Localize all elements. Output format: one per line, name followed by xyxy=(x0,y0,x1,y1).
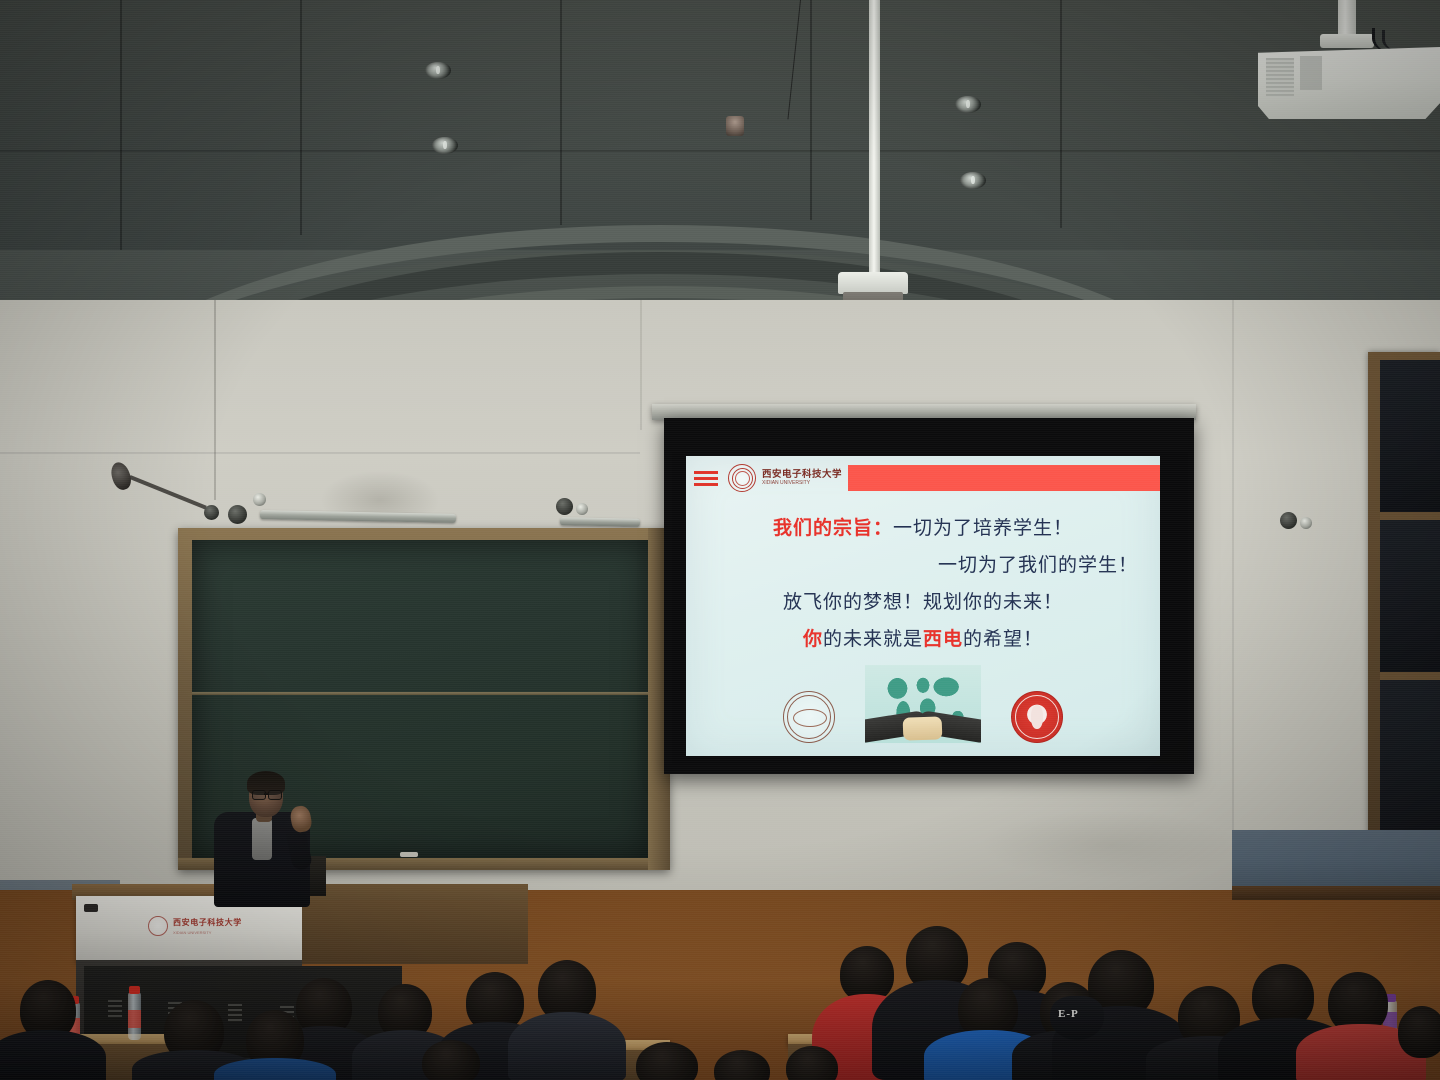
wall-fitting-icon xyxy=(253,493,266,506)
podium-side xyxy=(302,884,528,964)
red-stripe-bars-icon xyxy=(694,471,720,486)
slide-line-4-highlight2: 西电 xyxy=(923,628,963,650)
slide-image-row xyxy=(686,665,1160,743)
university-name-en: XIDIAN UNIVERSITY xyxy=(762,481,842,486)
ceiling-seam xyxy=(120,0,122,250)
wall-seam xyxy=(0,452,640,454)
slide-line-4-rest2: 的希望！ xyxy=(963,628,1043,650)
presenter-glasses-right-lens xyxy=(268,790,282,800)
university-name-block: 西安电子科技大学 XIDIAN UNIVERSITY xyxy=(762,470,842,487)
camera-mount-pole xyxy=(869,0,880,275)
window-mullion xyxy=(1380,512,1440,520)
red-seal-figure xyxy=(1031,705,1043,729)
wainscot-base-trim xyxy=(1232,886,1440,900)
speaker-mount-plate xyxy=(204,505,219,520)
wall-fitting-icon xyxy=(228,505,247,524)
podium-corner-tag xyxy=(84,904,98,912)
fluorescent-tube-icon xyxy=(560,517,640,527)
university-name-cn: 西安电子科技大学 xyxy=(762,470,842,480)
cabinet-vent xyxy=(228,1004,242,1022)
projector-vent xyxy=(1300,56,1322,90)
handshake-world-map-image xyxy=(865,665,981,743)
bottle-cap xyxy=(129,986,140,994)
wall-fitting-icon xyxy=(1300,517,1312,529)
slide-line-1: 我们的宗旨：一切为了培养学生！ xyxy=(702,513,1144,540)
slide-line-4-rest: 的未来就是 xyxy=(823,628,923,650)
wainscot-panel xyxy=(1232,830,1440,890)
ceiling-seam xyxy=(560,0,562,225)
podium-seal-icon xyxy=(148,916,168,936)
window-pane xyxy=(1380,360,1440,512)
window-pane xyxy=(1380,520,1440,672)
wall-seam xyxy=(640,300,642,430)
red-circular-seal-icon xyxy=(1011,691,1063,743)
ceiling-dark-panels xyxy=(0,0,1440,250)
podium-logo: 西安电子科技大学 XIDIAN UNIVERSITY xyxy=(148,916,242,936)
podium-logo-en: XIDIAN UNIVERSITY xyxy=(173,930,242,935)
bottle-label xyxy=(128,1010,141,1028)
slide-line-2: 一切为了我们的学生！ xyxy=(702,550,1144,577)
presenter-glasses-bridge xyxy=(264,793,268,795)
projector-vent xyxy=(1266,58,1294,98)
slide-line-3: 放飞你的梦想！规划你的未来！ xyxy=(702,587,1144,614)
blackboard-divider xyxy=(192,692,650,695)
ceiling-seam xyxy=(810,0,812,220)
window-pane xyxy=(1380,680,1440,848)
downlight-icon xyxy=(425,62,451,79)
slide-line-4: 你的未来就是西电的希望！ xyxy=(702,624,1144,651)
cabinet-vent xyxy=(108,1000,122,1018)
audience-shoulders xyxy=(508,1012,626,1080)
wall-seam xyxy=(214,300,216,500)
slide-content: 西安电子科技大学 XIDIAN UNIVERSITY 我们的宗旨：一切为了培养学… xyxy=(686,456,1160,756)
slide-line-1-rest: 一切为了培养学生！ xyxy=(893,517,1073,539)
chalk-piece xyxy=(400,852,418,857)
brown-scalloped-seal-icon xyxy=(783,691,835,743)
slide-line-4-highlight: 你 xyxy=(803,628,823,650)
presenter-shirt xyxy=(252,818,272,860)
lecture-hall-photo: 西安电子科技大学 XIDIAN UNIVERSITY 我们的宗旨：一切为了培养学… xyxy=(0,0,1440,1080)
presenter-glasses-left-lens xyxy=(252,790,266,800)
university-seal-icon xyxy=(728,464,756,492)
audience-head xyxy=(422,1040,480,1080)
slide-line-1-highlight: 我们的宗旨： xyxy=(773,517,893,539)
audience-head xyxy=(1398,1006,1440,1058)
projector-mount-plate xyxy=(1320,34,1374,48)
camera-base xyxy=(838,272,908,294)
wall-fitting-icon xyxy=(576,503,588,515)
ceiling-seam xyxy=(1060,0,1062,228)
downlight-icon xyxy=(432,137,458,154)
audience-shoulders xyxy=(0,1030,106,1080)
podium-logo-cn: 西安电子科技大学 xyxy=(173,917,242,928)
sprinkler-head-icon xyxy=(726,116,744,136)
wall-seam xyxy=(1232,300,1234,860)
wall-fitting-icon xyxy=(556,498,573,515)
window-mullion xyxy=(1380,672,1440,680)
downlight-icon xyxy=(955,96,981,113)
mask-graphic-text: E-P xyxy=(1058,1008,1088,1020)
wall-stain xyxy=(980,810,1240,880)
slide-text-block: 我们的宗旨：一切为了培养学生！ 一切为了我们的学生！ 放飞你的梦想！规划你的未来… xyxy=(686,513,1160,651)
ceiling-seam xyxy=(300,0,302,235)
header-red-bar xyxy=(848,465,1160,491)
slide-line-2-rest: 一切为了我们的学生！ xyxy=(938,554,1138,576)
handshake-grip xyxy=(903,716,943,741)
ceiling-seam xyxy=(0,150,1440,152)
downlight-icon xyxy=(960,172,986,189)
slide-line-3-rest: 放飞你的梦想！规划你的未来！ xyxy=(783,591,1063,613)
slide-header: 西安电子科技大学 XIDIAN UNIVERSITY xyxy=(686,456,1160,495)
wall-fitting-icon xyxy=(1280,512,1297,529)
